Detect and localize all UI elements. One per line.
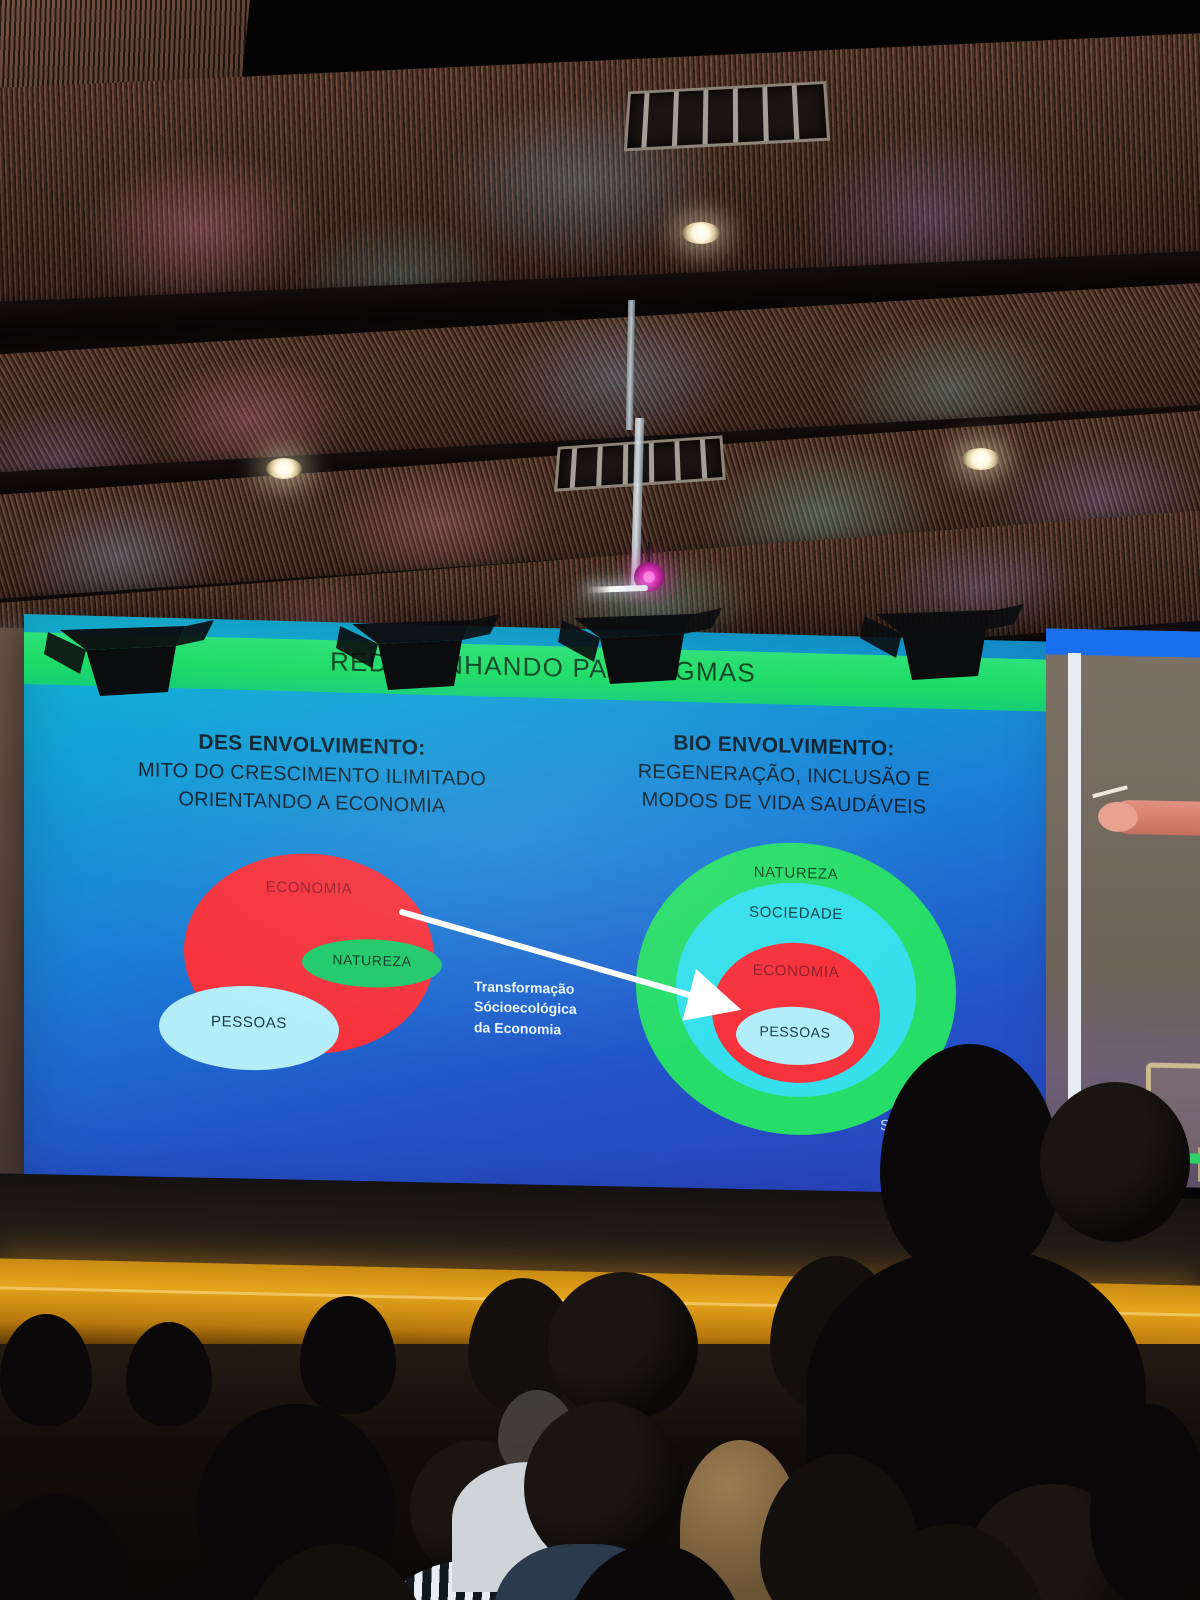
presenter-hand	[1098, 801, 1138, 832]
audience-head	[1040, 1082, 1190, 1242]
audience-head	[0, 1494, 130, 1600]
right-column-heading-group: BIO ENVOLVIMENTO: REGENERAÇÃO, INCLUSÃO …	[584, 729, 984, 822]
left-diagram-pessoas-label: PESSOAS	[211, 1013, 287, 1032]
recessed-downlight-icon	[266, 458, 302, 479]
audience-head	[548, 1272, 698, 1422]
secondary-screen-white-strip	[1068, 653, 1081, 1133]
hvac-vent-icon	[624, 81, 830, 151]
right-diagram-pessoas-label: PESSOAS	[759, 1023, 830, 1066]
left-diagram-natureza-label: NATUREZA	[332, 951, 411, 969]
photo-scene: REDESENHANDO PARADIGMAS DES ENVOLVIMENTO…	[0, 0, 1200, 1600]
left-diagram-economia-label: ECONOMIA	[266, 878, 352, 897]
left-column-heading-group: DES ENVOLVIMENTO: MITO DO CRESCIMENTO IL…	[102, 728, 522, 821]
recessed-downlight-icon	[682, 222, 720, 244]
stage-spotlight-row	[0, 596, 1200, 716]
transformation-label-line3: da Economia	[474, 1017, 604, 1041]
audience-area	[0, 1344, 1200, 1600]
transformation-label: Transformação Sócioecológica da Economia	[474, 976, 604, 1040]
pointer-icon	[1092, 785, 1128, 798]
ceiling	[0, 0, 1200, 640]
recessed-downlight-icon	[962, 448, 1000, 470]
